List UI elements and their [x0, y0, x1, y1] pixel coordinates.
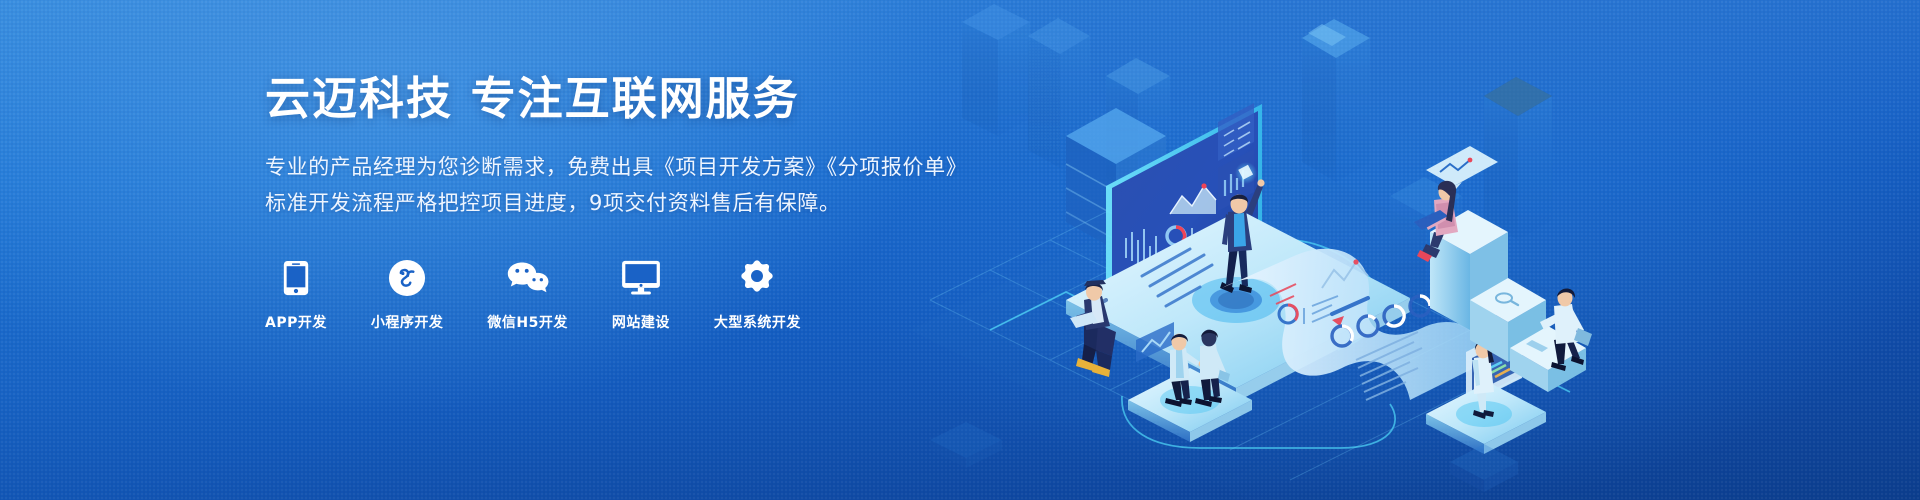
monitor-icon	[620, 257, 662, 299]
gear-icon	[736, 257, 778, 299]
service-item-system[interactable]: 大型系统开发	[714, 257, 801, 332]
service-item-app[interactable]: APP开发	[265, 257, 327, 332]
service-label-miniprogram: 小程序开发	[371, 312, 444, 332]
mobile-phone-icon	[275, 257, 317, 299]
service-label-system: 大型系统开发	[714, 312, 801, 332]
wechat-icon	[507, 257, 549, 299]
subtitle-line-1: 专业的产品经理为您诊断需求，免费出具《项目开发方案》《分项报价单》	[265, 149, 967, 185]
service-label-wechat: 微信H5开发	[487, 312, 567, 332]
service-item-wechat[interactable]: 微信H5开发	[487, 257, 567, 332]
foreground-diamond	[1450, 444, 1518, 492]
banner-title: 云迈科技 专注互联网服务	[265, 72, 967, 126]
mini-program-icon	[386, 257, 428, 299]
service-item-miniprogram[interactable]: 小程序开发	[371, 257, 444, 332]
service-list: APP开发 小程序开发	[265, 257, 967, 332]
left-diamond	[930, 422, 1002, 468]
hero-banner: 云迈科技 专注互联网服务 专业的产品经理为您诊断需求，免费出具《项目开发方案》《…	[0, 0, 1920, 500]
banner-subtitle: 专业的产品经理为您诊断需求，免费出具《项目开发方案》《分项报价单》 标准开发流程…	[265, 149, 967, 221]
isometric-data-platform-illustration	[870, 0, 1650, 500]
banner-content: 云迈科技 专注互联网服务 专业的产品经理为您诊断需求，免费出具《项目开发方案》《…	[265, 72, 967, 332]
service-item-website[interactable]: 网站建设	[612, 257, 670, 332]
subtitle-line-2: 标准开发流程严格把控项目进度，9项交付资料售后有保障。	[265, 185, 967, 221]
service-label-app: APP开发	[265, 312, 327, 332]
service-label-website: 网站建设	[612, 312, 670, 332]
